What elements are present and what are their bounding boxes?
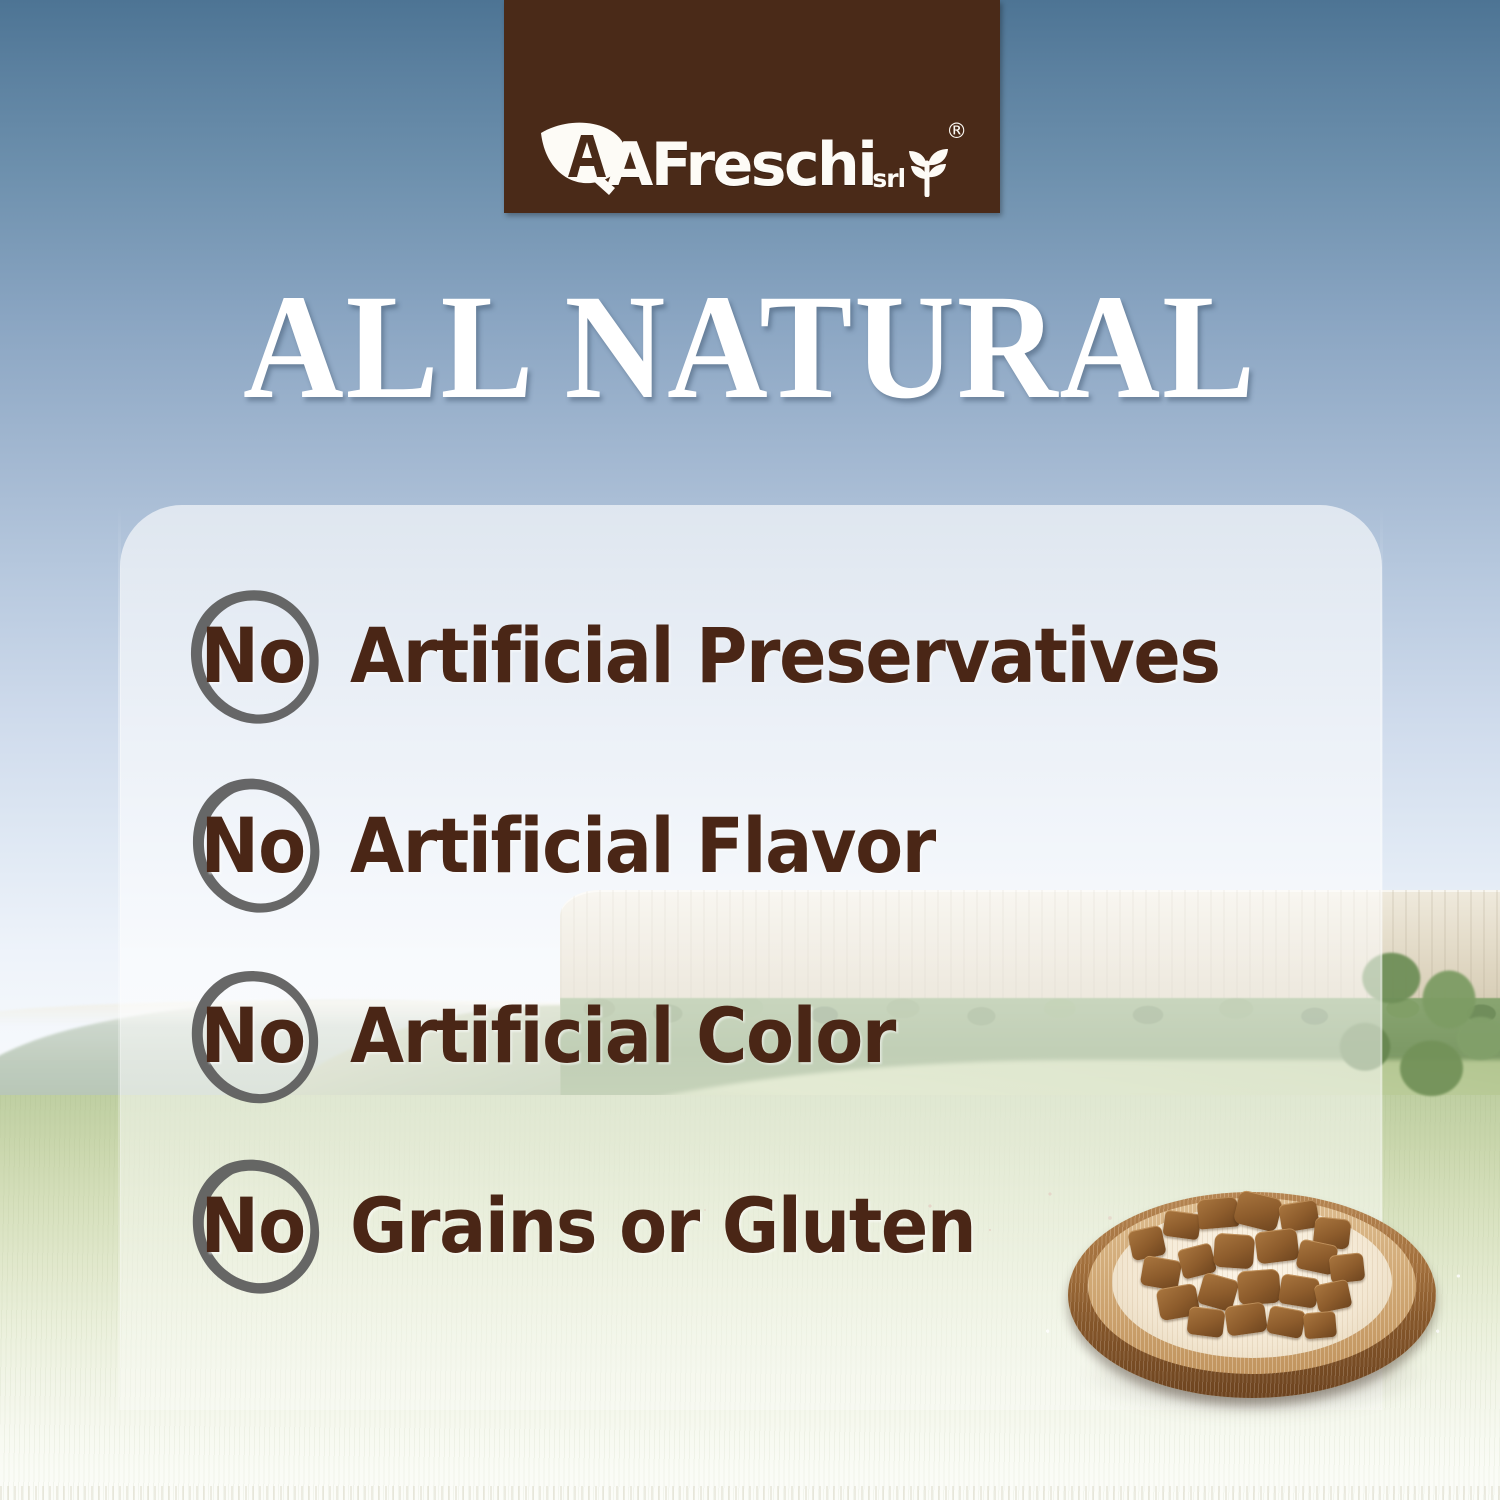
panel-left-edge bbox=[118, 505, 121, 1410]
claim-label: Artificial Preservatives bbox=[350, 611, 1220, 700]
no-badge: No bbox=[178, 750, 328, 940]
claim-label: Grains or Gluten bbox=[350, 1181, 975, 1270]
dog-treats-pile bbox=[1112, 1184, 1402, 1364]
no-badge: No bbox=[178, 1130, 328, 1320]
claim-label: Artificial Flavor bbox=[350, 801, 935, 890]
bottom-paper-edge bbox=[0, 1486, 1500, 1500]
product-image bbox=[1062, 1178, 1442, 1433]
brand-logo: AFreschi srl ® bbox=[537, 117, 967, 195]
claim-prefix: No bbox=[201, 801, 306, 890]
brand-name: AFreschi bbox=[607, 137, 875, 195]
claim-prefix: No bbox=[201, 611, 306, 700]
claim-item: No Artificial Color bbox=[178, 940, 1428, 1130]
no-badge: No bbox=[178, 560, 328, 750]
brand-legal-suffix: srl bbox=[872, 164, 905, 193]
sprout-icon bbox=[906, 137, 950, 197]
claim-item: No Artificial Flavor bbox=[178, 750, 1428, 940]
no-badge: No bbox=[178, 940, 328, 1130]
all-natural-product-poster: AFreschi srl ® ALL NATURAL N bbox=[0, 0, 1500, 1500]
leaf-magnifier-icon bbox=[537, 117, 633, 195]
claim-prefix: No bbox=[201, 1181, 306, 1270]
claim-label: Artificial Color bbox=[350, 991, 895, 1080]
brand-banner: AFreschi srl ® bbox=[504, 0, 1000, 213]
claim-item: No Artificial Preservatives bbox=[178, 560, 1428, 750]
claim-prefix: No bbox=[201, 991, 306, 1080]
page-title: ALL NATURAL bbox=[53, 272, 1448, 422]
